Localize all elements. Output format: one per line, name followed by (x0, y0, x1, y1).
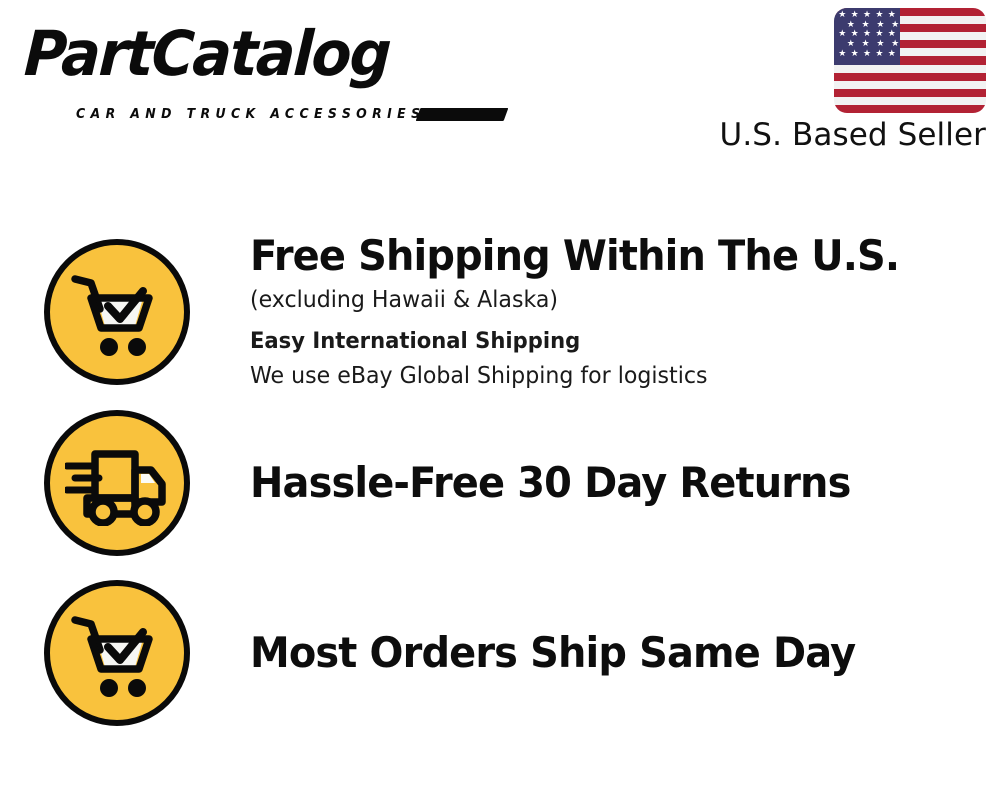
brand-wordmark: PartCatalog (23, 22, 468, 86)
flag-star-icon: ★ (838, 29, 846, 38)
feature-text-block: Free Shipping Within The U.S. (excluding… (190, 231, 974, 393)
us-based-seller-badge: ★★★★★ ★★★★ ★★★★★ ★★★★ ★★★★★ U.S. Based S… (716, 8, 986, 153)
flag-star-icon: ★ (875, 10, 883, 19)
flag-star-icon: ★ (838, 49, 846, 58)
flag-star-icon: ★ (847, 39, 855, 48)
flag-star-icon: ★ (862, 39, 870, 48)
feature-subtitle-international: Easy International Shipping (250, 324, 945, 359)
flag-star-icon: ★ (863, 49, 871, 58)
flag-star-icon: ★ (851, 10, 859, 19)
shopping-cart-check-icon (44, 580, 190, 726)
flag-star-row: ★★★★★ (834, 11, 900, 17)
feature-text-block: Hassle-Free 30 Day Returns (190, 458, 974, 508)
feature-title: Most Orders Ship Same Day (250, 628, 938, 678)
us-flag-icon: ★★★★★ ★★★★ ★★★★★ ★★★★ ★★★★★ (834, 8, 986, 113)
delivery-truck-icon (44, 410, 190, 556)
flag-star-icon: ★ (875, 49, 883, 58)
flag-star-icon: ★ (863, 10, 871, 19)
flag-star-icon: ★ (851, 29, 859, 38)
shopping-cart-check-icon (44, 239, 190, 385)
flag-star-icon: ★ (863, 29, 871, 38)
feature-subtitle-exclusions: (excluding Hawaii & Alaska) (250, 283, 945, 317)
brand-logo-swoosh (416, 108, 509, 121)
flag-star-icon: ★ (888, 10, 896, 19)
flag-star-icon: ★ (851, 49, 859, 58)
feature-subtitle-logistics: We use eBay Global Shipping for logistic… (250, 359, 945, 393)
flag-canton: ★★★★★ ★★★★ ★★★★★ ★★★★ ★★★★★ (834, 8, 900, 65)
flag-stripe (834, 105, 986, 113)
page-header: PartCatalog CAR AND TRUCK ACCESSORIES ★★… (0, 0, 1000, 175)
brand-logo[interactable]: PartCatalog CAR AND TRUCK ACCESSORIES (26, 22, 496, 114)
flag-star-icon: ★ (888, 49, 896, 58)
feature-title: Free Shipping Within The U.S. (250, 231, 938, 281)
flag-star-icon: ★ (876, 39, 884, 48)
flag-star-row: ★★★★ (834, 40, 912, 46)
us-based-seller-label: U.S. Based Seller (716, 117, 986, 153)
flag-star-icon: ★ (891, 39, 899, 48)
flag-star-icon: ★ (838, 10, 846, 19)
feature-row-same-day-ship: Most Orders Ship Same Day (44, 578, 974, 728)
feature-row-returns: Hassle-Free 30 Day Returns (44, 408, 974, 558)
flag-star-row: ★★★★★ (834, 50, 900, 56)
feature-title: Hassle-Free 30 Day Returns (250, 458, 938, 508)
flag-star-row: ★★★★ (834, 21, 912, 27)
feature-row-free-shipping: Free Shipping Within The U.S. (excluding… (44, 232, 974, 392)
flag-star-icon: ★ (875, 29, 883, 38)
feature-text-block: Most Orders Ship Same Day (190, 628, 974, 678)
flag-star-row: ★★★★★ (834, 31, 900, 37)
brand-tagline: CAR AND TRUCK ACCESSORIES (76, 107, 425, 122)
flag-star-icon: ★ (888, 29, 896, 38)
